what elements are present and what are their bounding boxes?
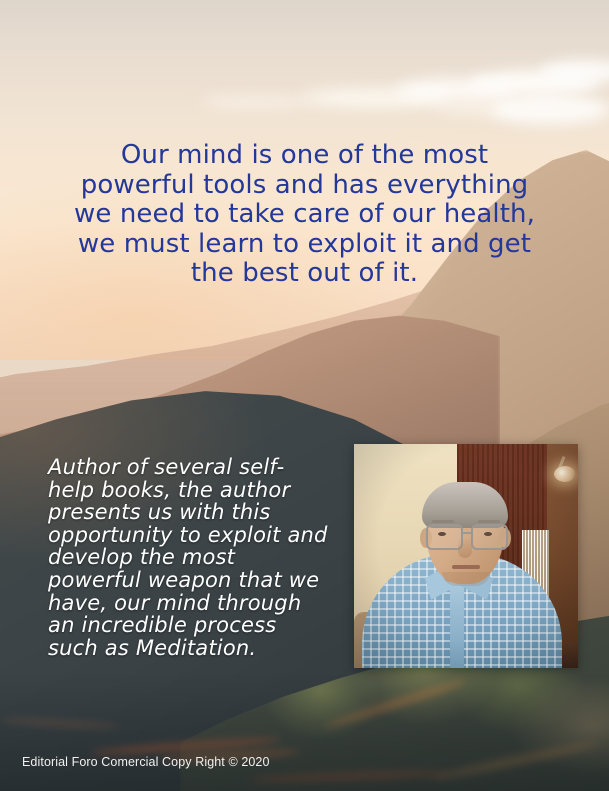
quote-line: we need to take care of our health, [0, 200, 609, 230]
cloud-shape [490, 95, 609, 125]
blurb-line: powerful weapon that we [48, 569, 350, 592]
blurb-line: presents us with this [48, 501, 350, 524]
quote-line: the best out of it. [0, 259, 609, 289]
book-back-cover: Our mind is one of the most powerful too… [0, 0, 609, 791]
blurb-line: Author of several self- [48, 456, 350, 479]
quote-line: we must learn to exploit it and get [0, 230, 609, 260]
blurb-line: an incredible process [48, 614, 350, 637]
cloud-shape [200, 95, 310, 109]
background-landscape-image [0, 0, 609, 791]
blurb-line: help books, the author [48, 479, 350, 502]
author-photo [354, 444, 578, 668]
blurb-line: opportunity to exploit and [48, 524, 350, 547]
quote-line: powerful tools and has everything [0, 171, 609, 201]
blurb-line: have, our mind through [48, 592, 350, 615]
bottom-vignette [0, 671, 609, 791]
quote-text: Our mind is one of the most powerful too… [0, 141, 609, 289]
copyright-footer: Editorial Foro Comercial Copy Right © 20… [22, 755, 270, 769]
blurb-line: such as Meditation. [48, 637, 350, 660]
photo-vignette [354, 444, 578, 668]
author-blurb-text: Author of several self- help books, the … [48, 456, 350, 659]
blurb-line: develop the most [48, 546, 350, 569]
quote-line: Our mind is one of the most [0, 141, 609, 171]
